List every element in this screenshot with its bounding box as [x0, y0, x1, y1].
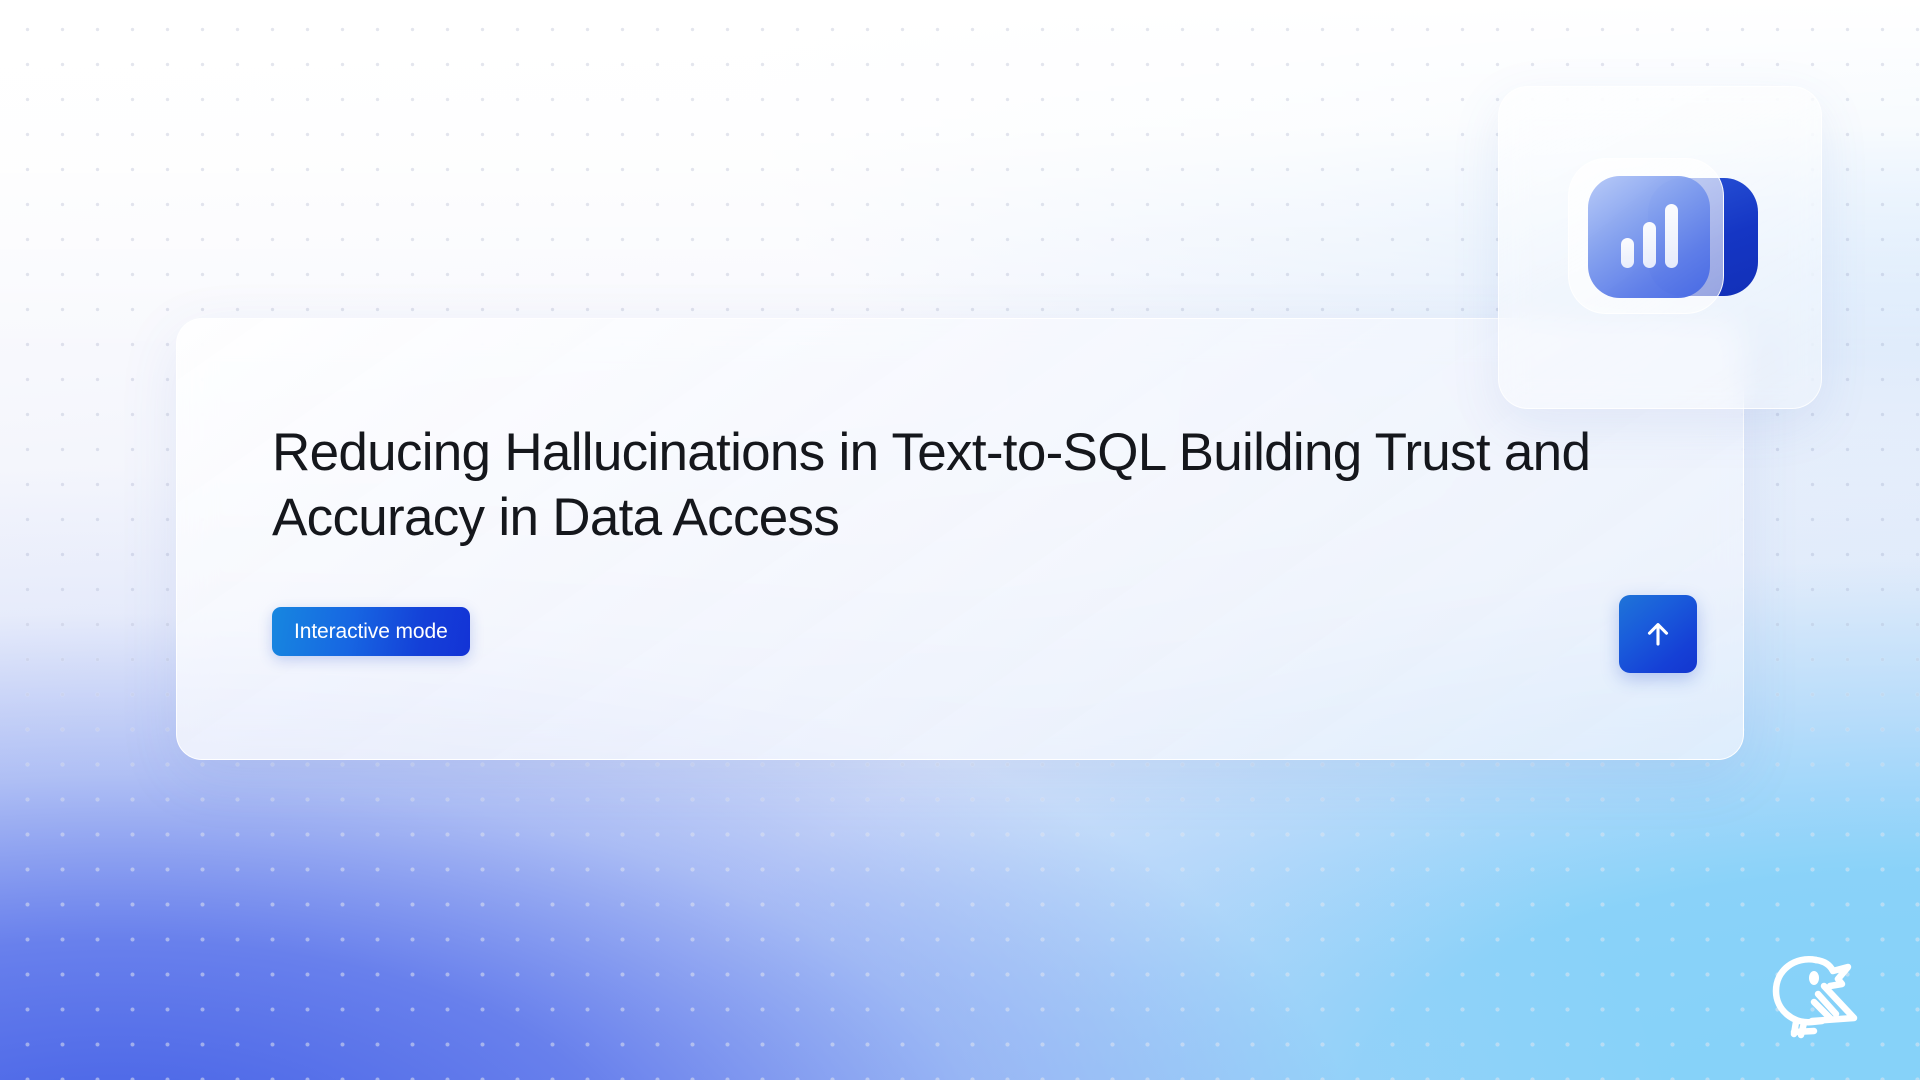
bar-chart-bar-large: [1665, 204, 1678, 268]
interactive-mode-badge-label: Interactive mode: [294, 620, 448, 644]
page-title: Reducing Hallucinations in Text-to-SQL B…: [272, 421, 1602, 550]
bird-icon: [1754, 934, 1874, 1054]
bar-chart-bar-small: [1621, 238, 1634, 268]
page-root: Reducing Hallucinations in Text-to-SQL B…: [0, 0, 1920, 1080]
interactive-mode-badge[interactable]: Interactive mode: [272, 607, 470, 656]
bar-chart-bar-medium: [1643, 222, 1656, 268]
bar-chart-icon: [1588, 176, 1710, 298]
arrow-up-icon: [1641, 617, 1675, 651]
submit-button[interactable]: [1619, 595, 1697, 673]
